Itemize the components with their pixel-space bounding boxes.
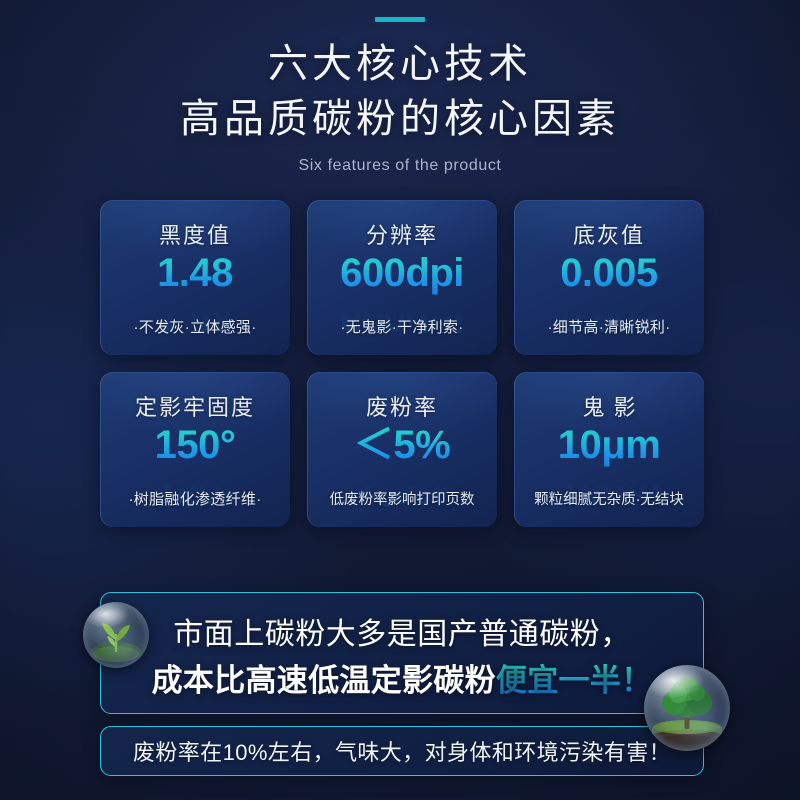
card-value-wrap: 10μm 10μm bbox=[558, 424, 661, 467]
warning-note-text: 废粉率在10%左右，气味大，对身体和环境污染有害！ bbox=[133, 735, 671, 767]
card-title: 分辨率 bbox=[366, 218, 438, 250]
card-value-wrap: ＜5% ＜5% bbox=[354, 424, 450, 467]
card-description: ·无鬼影·干净利索· bbox=[307, 316, 497, 337]
card-description: 低废粉率影响打印页数 bbox=[307, 488, 497, 509]
card-title: 底灰值 bbox=[573, 218, 645, 250]
card-value: 10μm bbox=[558, 424, 661, 467]
sprout-sphere-icon bbox=[83, 602, 149, 668]
card-description: ·不发灰·立体感强· bbox=[100, 316, 290, 337]
card-value-wrap: 600dpi 600dpi bbox=[340, 252, 464, 295]
page-header: 六大核心技术 高品质碳粉的核心因素 Six features of the pr… bbox=[0, 0, 800, 175]
page-subtitle: Six features of the product bbox=[0, 157, 800, 175]
warning-note: 废粉率在10%左右，气味大，对身体和环境污染有害！ bbox=[100, 726, 704, 776]
card-value-wrap: 1.48 1.48 bbox=[157, 252, 233, 295]
card-title: 黑度值 bbox=[159, 218, 231, 250]
banner-line-2-plain: 成本比高速低温定影碳粉 bbox=[152, 663, 496, 698]
page-title-line-2: 高品质碳粉的核心因素 bbox=[0, 95, 800, 144]
banner-line-2: 成本比高速低温定影碳粉便宜一半！ bbox=[101, 655, 703, 700]
comparison-banner: 市面上碳粉大多是国产普通碳粉， 成本比高速低温定影碳粉便宜一半！ bbox=[100, 592, 704, 714]
feature-card-fusing-fastness[interactable]: 定影牢固度 150° 150° ·树脂融化渗透纤维· bbox=[100, 372, 290, 527]
card-title: 鬼影 bbox=[573, 390, 644, 422]
accent-bar bbox=[375, 17, 425, 22]
feature-card-resolution[interactable]: 分辨率 600dpi 600dpi ·无鬼影·干净利索· bbox=[307, 200, 497, 355]
page-title-line-1: 六大核心技术 bbox=[0, 40, 800, 89]
card-value: 600dpi bbox=[340, 252, 464, 295]
card-value: 0.005 bbox=[560, 252, 658, 295]
banner-line-2-highlight: 便宜一半！ bbox=[496, 663, 653, 698]
card-title: 废粉率 bbox=[366, 390, 438, 422]
tree-sphere-icon bbox=[644, 665, 730, 751]
feature-card-blackness[interactable]: 黑度值 1.48 1.48 ·不发灰·立体感强· bbox=[100, 200, 290, 355]
card-value: 1.48 bbox=[157, 252, 233, 295]
banner-line-1: 市面上碳粉大多是国产普通碳粉， bbox=[101, 609, 703, 653]
card-description: ·树脂融化渗透纤维· bbox=[100, 488, 290, 509]
feature-cards-grid: 黑度值 1.48 1.48 ·不发灰·立体感强· 分辨率 600dpi 600d… bbox=[100, 200, 704, 527]
card-description: ·细节高·清晰锐利· bbox=[514, 316, 704, 337]
card-description: 颗粒细腻无杂质·无结块 bbox=[514, 488, 704, 509]
feature-card-ghosting[interactable]: 鬼影 10μm 10μm 颗粒细腻无杂质·无结块 bbox=[514, 372, 704, 527]
card-value: ＜5% bbox=[354, 424, 450, 467]
feature-card-background-fog[interactable]: 底灰值 0.005 0.005 ·细节高·清晰锐利· bbox=[514, 200, 704, 355]
card-value-wrap: 150° 150° bbox=[155, 424, 236, 467]
card-title: 定影牢固度 bbox=[135, 390, 255, 422]
feature-card-waste-toner-rate[interactable]: 废粉率 ＜5% ＜5% 低废粉率影响打印页数 bbox=[307, 372, 497, 527]
card-value: 150° bbox=[155, 424, 236, 467]
card-value-wrap: 0.005 0.005 bbox=[560, 252, 658, 295]
